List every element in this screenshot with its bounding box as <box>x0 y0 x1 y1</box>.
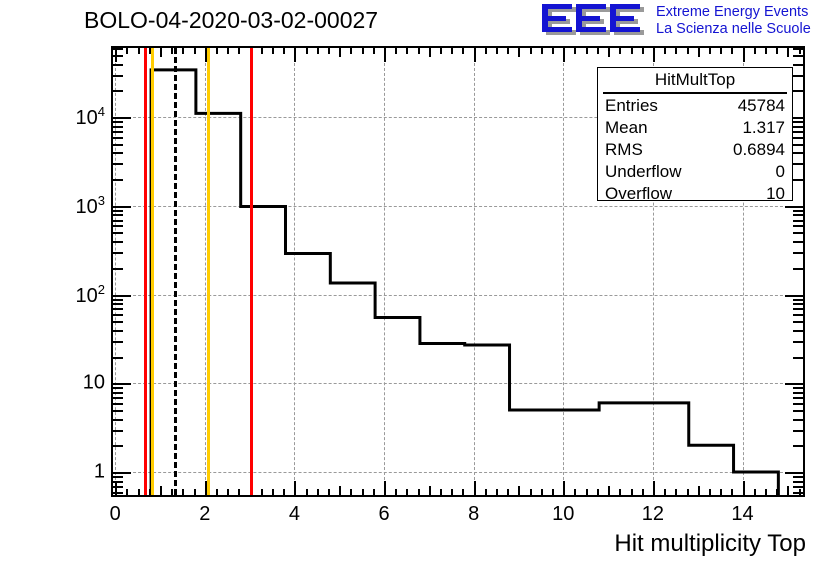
stats-row-label: Underflow <box>605 161 682 182</box>
stats-row: Underflow0 <box>598 160 792 182</box>
page-title: BOLO-04-2020-03-02-00027 <box>84 7 378 34</box>
stats-row: RMS0.6894 <box>598 138 792 160</box>
stats-row-value: 45784 <box>738 95 785 116</box>
marker-line-cut-high-orange <box>207 48 210 495</box>
y-tick-label: 104 <box>76 104 105 130</box>
stats-box: HitMultTop Entries45784Mean1.317RMS0.689… <box>597 67 793 201</box>
stats-row: Overflow10 <box>598 182 792 204</box>
stats-row-value: 10 <box>766 183 785 204</box>
y-tick-label: 102 <box>76 282 105 308</box>
x-tick-label: 4 <box>289 503 300 526</box>
stats-row-label: RMS <box>605 139 643 160</box>
stats-row-label: Mean <box>605 117 648 138</box>
stats-row: Entries45784 <box>598 94 792 116</box>
stats-row-value: 0.6894 <box>733 139 785 160</box>
stats-row-value: 0 <box>776 161 785 182</box>
marker-line-mean-dashed <box>174 48 177 495</box>
marker-line-cut-high-red <box>250 48 253 495</box>
stats-row-value: 1.317 <box>742 117 785 138</box>
eee-logo-line1: Extreme Energy Events <box>656 4 811 21</box>
stats-row: Mean1.317 <box>598 116 792 138</box>
x-tick-label: 10 <box>552 503 574 526</box>
marker-line-cut-low-orange <box>151 48 154 495</box>
y-tick-label: 10 <box>83 372 105 395</box>
x-tick-label: 0 <box>110 503 121 526</box>
stats-rows: Entries45784Mean1.317RMS0.6894Underflow0… <box>598 94 792 204</box>
x-tick-label: 14 <box>731 503 753 526</box>
x-tick-label: 12 <box>642 503 664 526</box>
marker-line-cut-low-red <box>144 48 147 495</box>
x-axis-title: Hit multiplicity Top <box>614 530 806 558</box>
x-tick-label: 2 <box>199 503 210 526</box>
x-tick-label: 8 <box>468 503 479 526</box>
x-tick-label: 6 <box>379 503 390 526</box>
stats-title: HitMultTop <box>603 69 787 94</box>
stats-row-label: Overflow <box>605 183 672 204</box>
stats-row-label: Entries <box>605 95 658 116</box>
y-tick-label: 103 <box>76 193 105 219</box>
eee-logo-line2: La Scienza nelle Scuole <box>656 21 811 38</box>
eee-logo-text: Extreme Energy Events La Scienza nelle S… <box>656 4 811 38</box>
eee-logo-mark <box>538 3 648 39</box>
eee-logo: Extreme Energy Events La Scienza nelle S… <box>538 3 834 41</box>
y-tick-label: 1 <box>94 460 105 483</box>
root-canvas: BOLO-04-2020-03-02-00027 <box>0 0 836 572</box>
